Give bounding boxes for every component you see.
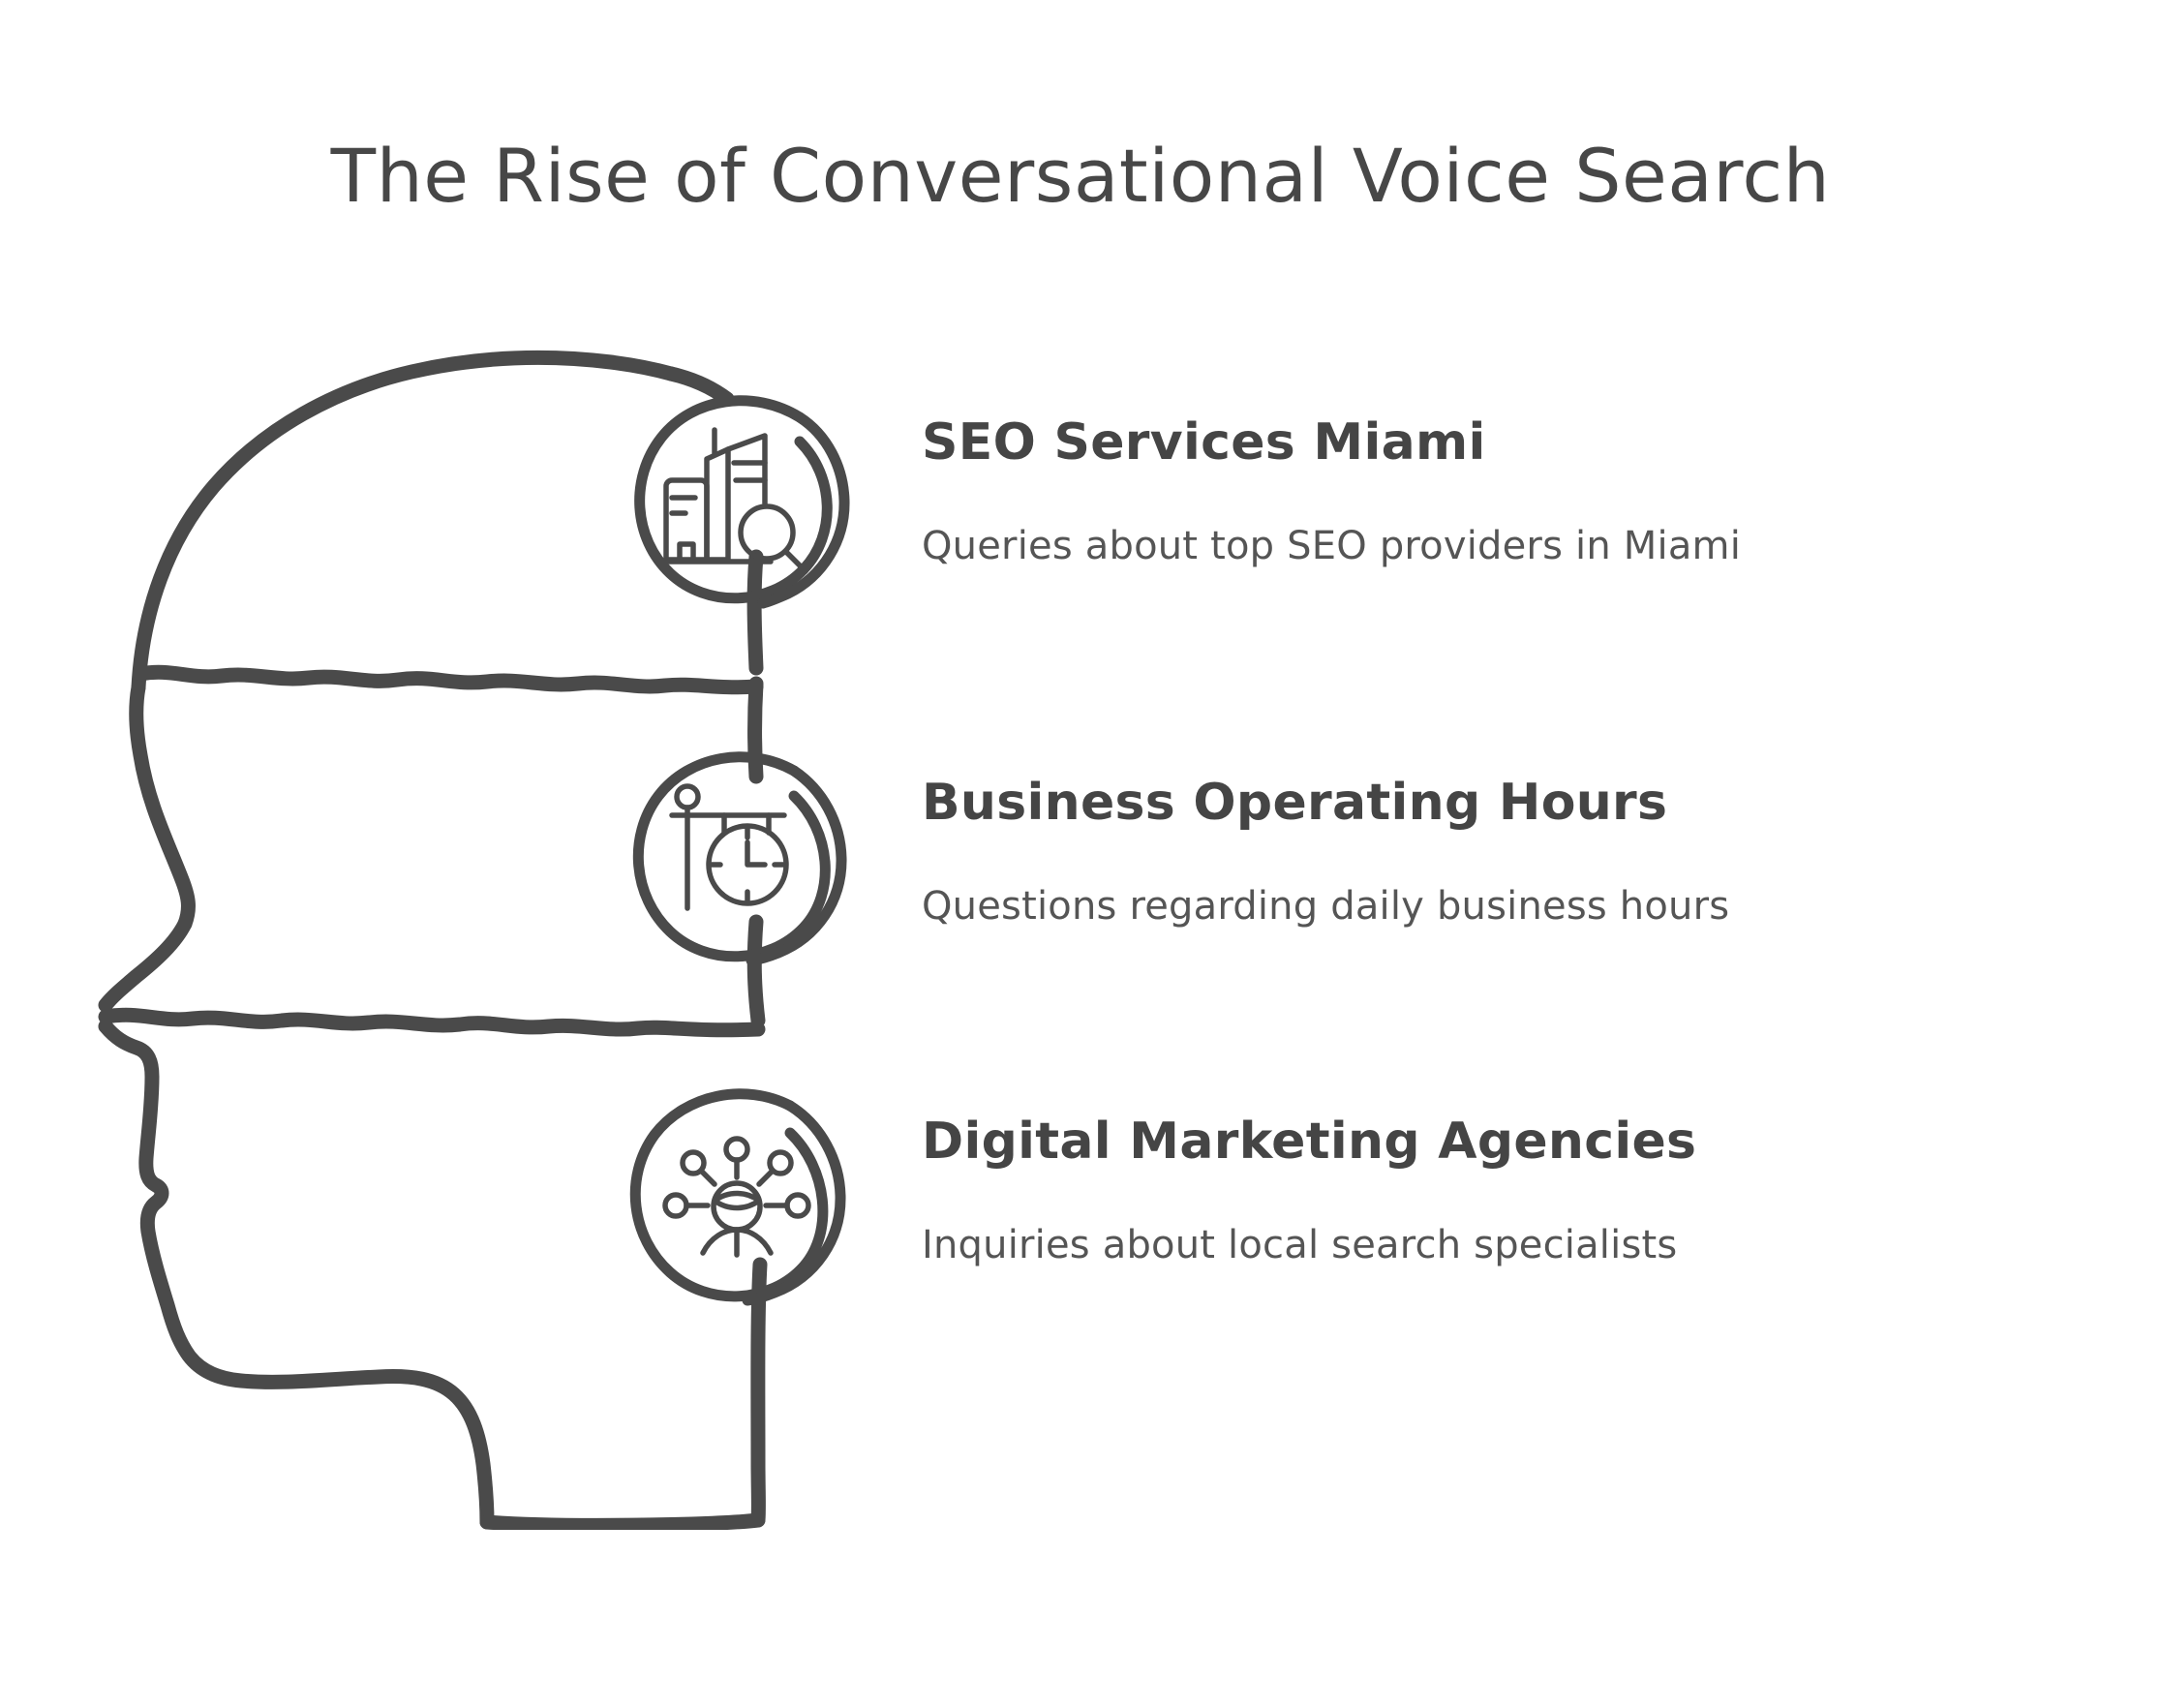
- item-description: Questions regarding daily business hours: [922, 833, 2064, 930]
- infographic-canvas: The Rise of Conversational Voice Search: [0, 0, 2161, 1708]
- item-description: Inquiries about local search specialists: [922, 1172, 2064, 1268]
- item-heading: SEO Services Miami: [922, 414, 2064, 473]
- badge-seo-services[interactable]: [627, 391, 850, 614]
- list-item: Digital Marketing Agencies Inquiries abo…: [922, 1113, 2064, 1268]
- diagram-stage: SEO Services Miami Queries about top SEO…: [0, 0, 2161, 1708]
- list-item: Business Operating Hours Questions regar…: [922, 775, 2064, 930]
- list-item: SEO Services Miami Queries about top SEO…: [922, 414, 2064, 569]
- item-heading: Digital Marketing Agencies: [922, 1113, 2064, 1172]
- badge-operating-hours[interactable]: [627, 749, 850, 972]
- hanging-sign-clock-icon: [627, 749, 850, 972]
- person-network-nodes-icon: [627, 1088, 850, 1311]
- item-heading: Business Operating Hours: [922, 775, 2064, 833]
- item-description: Queries about top SEO providers in Miami: [922, 473, 2064, 569]
- city-buildings-search-icon: [627, 391, 850, 614]
- badge-marketing-agencies[interactable]: [627, 1088, 850, 1311]
